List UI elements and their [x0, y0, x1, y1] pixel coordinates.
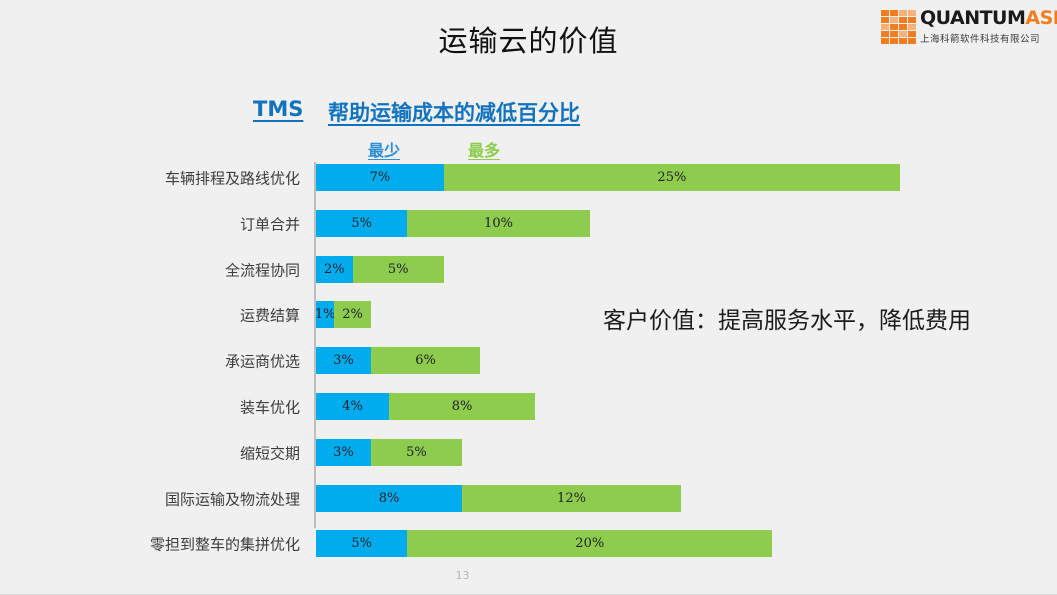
bar-value-label: 1% — [315, 307, 336, 322]
bar-value-label: 2% — [324, 262, 345, 277]
category-label: 订单合并 — [240, 213, 300, 234]
logo-wordmark: QUANTUMASIA — [920, 8, 1057, 28]
stacked-bar: 7%25% — [316, 164, 900, 191]
bar-value-label: 20% — [575, 536, 604, 551]
chart-row: 订单合并5%10% — [0, 206, 1057, 242]
bar-segment-max: 20% — [407, 530, 772, 557]
bar-segment-min: 5% — [316, 210, 407, 237]
category-label: 缩短交期 — [240, 442, 300, 463]
logo-dot-matrix-icon — [881, 10, 916, 44]
stacked-bar: 8%12% — [316, 485, 681, 512]
bar-segment-max: 5% — [353, 256, 444, 283]
bar-segment-max: 2% — [334, 301, 371, 328]
chart-row: 国际运输及物流处理8%12% — [0, 481, 1057, 517]
bar-segment-min: 1% — [316, 301, 334, 328]
logo-company-name: 上海科箭软件科技有限公司 — [920, 31, 1057, 45]
stacked-bar: 4%8% — [316, 393, 535, 420]
company-logo: QUANTUMASIA 上海科箭软件科技有限公司 — [881, 8, 1049, 54]
category-label: 承运商优选 — [225, 351, 300, 372]
callout-text: 客户价值：提高服务水平，降低费用 — [603, 301, 971, 335]
bar-segment-min: 4% — [316, 393, 389, 420]
bar-segment-min: 8% — [316, 485, 462, 512]
bar-value-label: 4% — [342, 399, 363, 414]
bar-segment-max: 25% — [444, 164, 900, 191]
category-label: 运费结算 — [240, 305, 300, 326]
stacked-bar: 1%2% — [316, 301, 371, 328]
bar-value-label: 5% — [388, 262, 409, 277]
stacked-bar: 3%6% — [316, 347, 480, 374]
bar-value-label: 6% — [415, 353, 436, 368]
chart-row: 车辆排程及路线优化7%25% — [0, 160, 1057, 196]
chart-row: 缩短交期3%5% — [0, 435, 1057, 471]
logo-wordmark-asia: ASIA — [1025, 7, 1057, 29]
legend-item-max: 最多 — [468, 137, 500, 161]
stacked-bar: 5%10% — [316, 210, 590, 237]
bar-value-label: 5% — [351, 216, 372, 231]
bar-segment-max: 8% — [389, 393, 535, 420]
bar-value-label: 5% — [351, 536, 372, 551]
chart-row: 零担到整车的集拼优化5%20% — [0, 526, 1057, 562]
stacked-bar: 2%5% — [316, 256, 444, 283]
category-label: 零担到整车的集拼优化 — [150, 534, 300, 555]
bar-value-label: 5% — [406, 445, 427, 460]
bar-segment-min: 2% — [316, 256, 353, 283]
bar-segment-min: 3% — [316, 439, 371, 466]
bar-value-label: 3% — [333, 445, 354, 460]
bar-value-label: 10% — [484, 216, 513, 231]
bar-value-label: 7% — [370, 170, 391, 185]
category-label: 装车优化 — [240, 397, 300, 418]
chart-row: 装车优化4%8% — [0, 389, 1057, 425]
chart-row: 承运商优选3%6% — [0, 343, 1057, 379]
bar-value-label: 25% — [657, 170, 686, 185]
bar-segment-max: 6% — [371, 347, 481, 374]
page-number: 13 — [0, 569, 925, 582]
bar-segment-min: 3% — [316, 347, 371, 374]
bar-value-label: 2% — [342, 307, 363, 322]
bar-segment-min: 7% — [316, 164, 444, 191]
slide-canvas: 运输云的价值 QUANTUMASIA 上海科箭软件科技有限公司 TMS 帮助运输… — [0, 0, 1057, 595]
stacked-bar: 5%20% — [316, 530, 772, 557]
stacked-bar-chart: 车辆排程及路线优化7%25%订单合并5%10%全流程协同2%5%运费结算1%2%… — [0, 160, 1057, 532]
chart-header-subject: 帮助运输成本的减低百分比 — [328, 97, 580, 127]
bar-segment-max: 12% — [462, 485, 681, 512]
bar-segment-max: 5% — [371, 439, 462, 466]
stacked-bar: 3%5% — [316, 439, 462, 466]
chart-header-tms: TMS — [253, 97, 303, 121]
legend-item-min: 最少 — [368, 137, 400, 161]
category-label: 国际运输及物流处理 — [165, 488, 300, 509]
bar-segment-max: 10% — [407, 210, 590, 237]
category-label: 车辆排程及路线优化 — [165, 168, 300, 189]
bar-value-label: 12% — [557, 491, 586, 506]
bar-value-label: 8% — [379, 491, 400, 506]
chart-row: 全流程协同2%5% — [0, 252, 1057, 288]
bar-value-label: 8% — [452, 399, 473, 414]
logo-wordmark-quantum: QUANTUM — [920, 7, 1025, 29]
bar-segment-min: 5% — [316, 530, 407, 557]
bar-value-label: 3% — [333, 353, 354, 368]
category-label: 全流程协同 — [225, 259, 300, 280]
